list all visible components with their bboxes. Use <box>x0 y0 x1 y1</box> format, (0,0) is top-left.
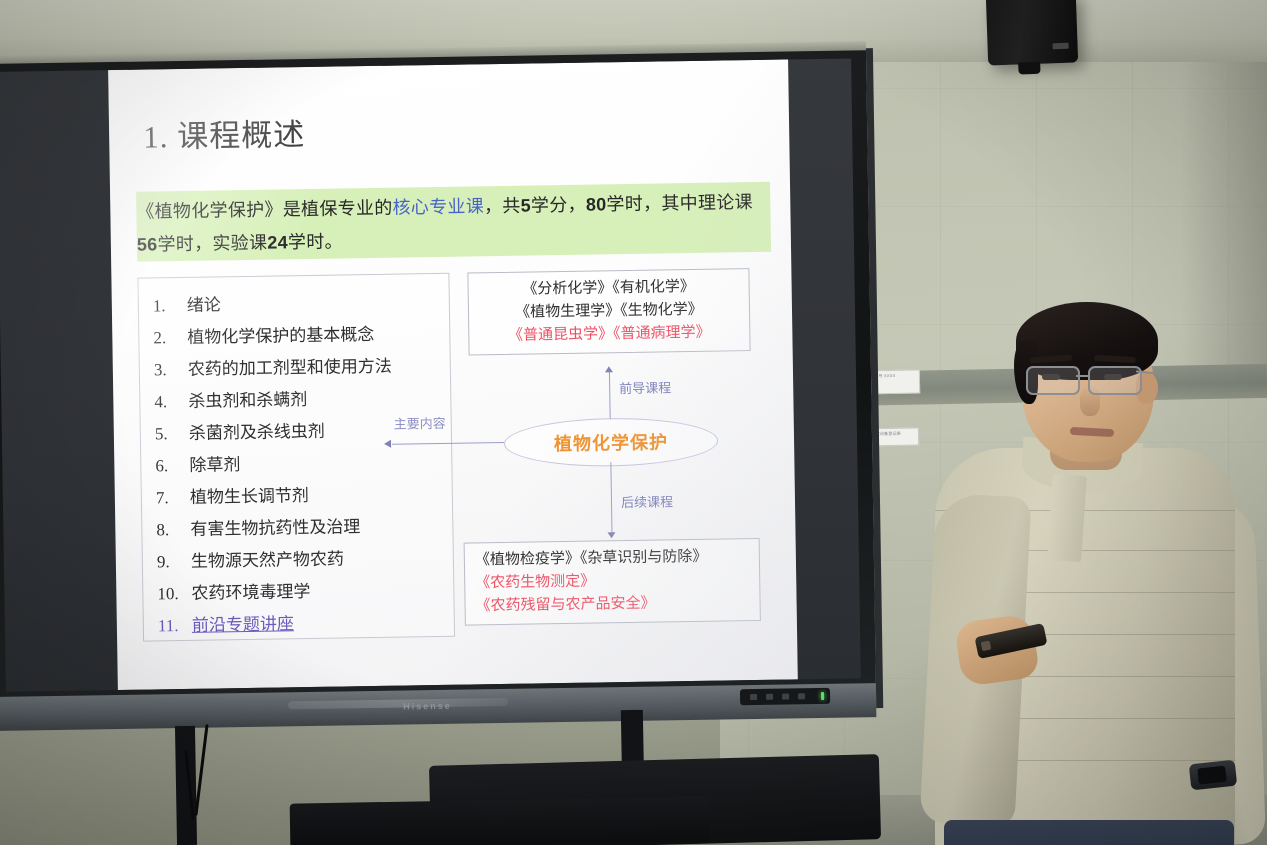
arrow-left-icon <box>384 440 391 448</box>
presentation-slide[interactable]: 1. 课程概述 《植物化学保护》是植保专业的核心专业课，共5学分，80学时，其中… <box>108 59 798 690</box>
outline-item-7: 7.植物生长调节剂 <box>142 478 452 515</box>
outline-item-label: 有害生物抗药性及治理 <box>190 511 360 546</box>
band-theory-value: 56 <box>137 234 158 254</box>
band-hours-value: 80 <box>586 194 607 214</box>
band-text-before: 《植物化学保护》是植保专业的 <box>136 198 392 222</box>
wristwatch-icon <box>1189 760 1237 791</box>
outline-item-label: 前沿专题讲座 <box>192 608 294 642</box>
outline-item-2: 2.植物化学保护的基本概念 <box>139 318 449 355</box>
outline-item-3: 3.农药的加工剂型和使用方法 <box>140 350 450 387</box>
outline-item-number: 2. <box>153 322 187 355</box>
course-outline-box: 1.绪论2.植物化学保护的基本概念3.农药的加工剂型和使用方法4.杀虫剂和杀螨剂… <box>137 273 455 642</box>
label-prerequisite: 前导课程 <box>619 377 671 397</box>
label-followup: 后续课程 <box>621 491 673 511</box>
glasses-lens-left <box>1026 366 1080 395</box>
outline-item-label: 农药的加工剂型和使用方法 <box>188 351 392 386</box>
followup-courses-box: 《植物检疫学》《杂草识别与防除》 《农药生物测定》 《农药残留与农产品安全》 <box>464 538 761 626</box>
band-text-after-lab: 学时。 <box>288 231 343 252</box>
display-button-1[interactable] <box>750 694 757 700</box>
outline-item-label: 植物化学保护的基本概念 <box>187 319 374 354</box>
outline-item-number: 3. <box>154 354 188 387</box>
outline-item-label: 绪论 <box>187 289 221 322</box>
outline-item-9: 9.生物源天然产物农药 <box>143 542 453 579</box>
band-text-after1: ，共 <box>484 196 521 217</box>
band-text-emphasis: 核心专业课 <box>392 196 484 217</box>
outline-item-number: 1. <box>153 290 187 323</box>
connector-prerequisite <box>609 370 611 420</box>
center-topic-oval: 植物化学保护 <box>504 417 719 468</box>
arrow-up-icon <box>605 366 613 372</box>
display-button-4[interactable] <box>798 693 805 699</box>
arrow-down-icon <box>607 532 615 538</box>
interactive-flat-panel-display[interactable]: 1. 课程概述 《植物化学保护》是植保专业的核心专业课，共5学分，80学时，其中… <box>0 48 876 722</box>
presenter <box>930 300 1267 845</box>
display-button-3[interactable] <box>782 693 789 699</box>
outline-item-number: 8. <box>156 514 190 547</box>
outline-item-label: 杀虫剂和杀螨剂 <box>188 384 307 418</box>
label-main-content: 主要内容 <box>394 413 446 433</box>
slide-highlight-text: 《植物化学保护》是植保专业的核心专业课，共5学分，80学时，其中理论课56学时，… <box>136 186 773 262</box>
slide-title: 1. 课程概述 <box>143 109 306 157</box>
display-brand-logo: Hisense <box>403 701 452 712</box>
presenter-placket <box>1047 474 1087 562</box>
outline-item-number: 9. <box>157 546 191 579</box>
stand-base <box>290 796 711 845</box>
prereq-line-3: 《普通昆虫学》《普通病理学》 <box>473 321 745 348</box>
prerequisite-courses-box: 《分析化学》《有机化学》 《植物生理学》《生物化学》 《普通昆虫学》《普通病理学… <box>467 268 750 355</box>
center-topic-label: 植物化学保护 <box>554 428 668 456</box>
outline-item-11[interactable]: 11.前沿专题讲座 <box>144 606 454 643</box>
presenter-nose <box>1080 386 1100 416</box>
outline-item-number: 10. <box>157 578 191 611</box>
glasses-bridge <box>1076 375 1088 377</box>
outline-item-number: 7. <box>156 482 190 515</box>
outline-item-label: 植物生长调节剂 <box>190 480 309 514</box>
display-button-2[interactable] <box>766 694 773 700</box>
outline-item-label: 农药环境毒理学 <box>191 576 310 610</box>
band-credits-value: 5 <box>520 195 531 215</box>
outline-item-number: 5. <box>155 418 189 451</box>
slide-content: 1. 课程概述 《植物化学保护》是植保专业的核心专业课，共5学分，80学时，其中… <box>108 59 798 690</box>
band-text-after-hours: 学时，其中理论课 <box>606 192 753 214</box>
display-screen[interactable]: 1. 课程概述 《植物化学保护》是植保专业的核心专业课，共5学分，80学时，其中… <box>0 58 861 691</box>
outline-item-label: 杀菌剂及杀线虫剂 <box>189 416 325 450</box>
outline-item-10: 10.农药环境毒理学 <box>143 574 453 611</box>
outline-item-label: 生物源天然产物农药 <box>191 543 344 577</box>
display-button-pod[interactable] <box>740 688 830 705</box>
connector-followup <box>610 462 612 536</box>
outline-item-number: 6. <box>155 450 189 483</box>
band-text-after-theory: 学时，实验课 <box>157 233 267 255</box>
outline-item-8: 8.有害生物抗药性及治理 <box>142 510 452 547</box>
course-outline-list: 1.绪论2.植物化学保护的基本概念3.农药的加工剂型和使用方法4.杀虫剂和杀螨剂… <box>138 274 454 643</box>
power-led-icon <box>821 692 824 700</box>
wall-speaker-icon <box>986 0 1078 66</box>
band-text-after-credits: 学分， <box>531 195 586 216</box>
screenshot-root: 设备编号 XXXX 多媒体教室设备登记表 1. 课程概述 《植物化学保护》是植保… <box>0 0 1267 845</box>
course-relationship-diagram: 《分析化学》《有机化学》 《植物生理学》《生物化学》 《普通昆虫学》《普通病理学… <box>451 268 773 635</box>
speaker-brand-badge <box>1053 43 1069 50</box>
band-lab-value: 24 <box>267 232 288 252</box>
outline-item-label: 除草剂 <box>189 449 240 482</box>
outline-item-number: 11. <box>158 610 192 643</box>
presenter-jeans <box>944 820 1234 845</box>
outline-item-1: 1.绪论 <box>139 286 449 323</box>
followup-line-3: 《农药残留与农产品安全》 <box>475 591 755 618</box>
outline-item-6: 6.除草剂 <box>141 446 451 483</box>
outline-item-number: 4. <box>154 386 188 419</box>
stand-leg-left <box>175 726 197 845</box>
